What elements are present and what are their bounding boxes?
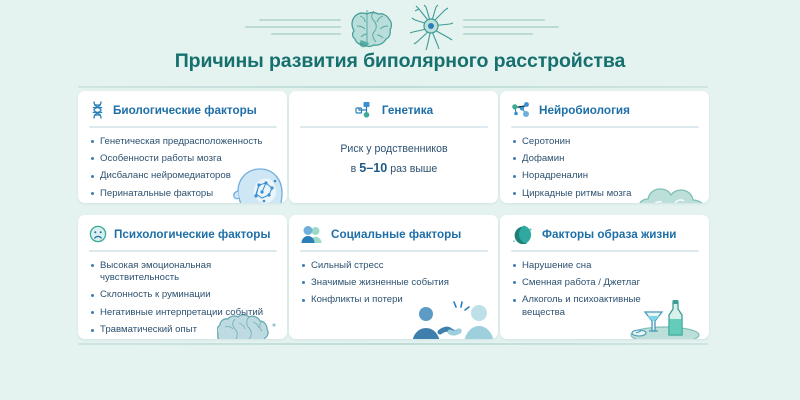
card-header: Биологические факторы (89, 100, 277, 120)
divider-bottom (78, 343, 708, 345)
card-header: Нейробиология (511, 100, 699, 120)
card-divider (300, 250, 488, 252)
bullet-dot (91, 264, 94, 267)
bullet-dot (513, 192, 516, 195)
card-header: Факторы образа жизни (511, 224, 699, 244)
card-title: Факторы образа жизни (542, 228, 676, 241)
list-item-label: Генетическая предрасположенность (100, 136, 263, 148)
list-item: Нарушение сна (511, 260, 699, 272)
bullet-dot (91, 192, 94, 195)
two-people-icon (300, 225, 324, 243)
speedlines-right (463, 19, 559, 35)
bullet-list: Высокая эмоциональная чувствительность С… (89, 260, 277, 337)
card-lifestyle-factors[interactable]: Факторы образа жизни Нарушение сна Сменн… (500, 215, 709, 339)
genetics-stat: Риск у родственников в 5–10 раз выше (300, 141, 488, 179)
bullet-dot (302, 281, 305, 284)
speedline (259, 19, 341, 21)
card-title: Социальные факторы (331, 228, 461, 241)
header: Причины развития биполярного расстройств… (0, 0, 800, 88)
hero-illustration-row (0, 4, 800, 50)
list-item: Перинатальные факторы (89, 188, 277, 200)
card-divider (511, 250, 699, 252)
speedline (463, 33, 533, 35)
brain-illustration (347, 4, 399, 50)
dna-icon (89, 101, 106, 119)
list-item: Травматический опыт (89, 324, 277, 336)
list-item-label: Склонность к руминации (100, 289, 211, 301)
list-item: Норадреналин (511, 170, 699, 182)
card-header: Социальные факторы (300, 224, 488, 244)
bullet-dot (91, 175, 94, 178)
bullet-dot (513, 299, 516, 302)
bullet-dot (91, 294, 94, 297)
bullet-dot (91, 140, 94, 143)
list-item: Конфликты и потери (300, 294, 488, 306)
card-header: Генетика (300, 100, 488, 120)
card-title: Психологические факторы (114, 228, 270, 241)
card-divider (89, 126, 277, 128)
bullet-dot (513, 175, 516, 178)
card-social-factors[interactable]: Социальные факторы Сильный стресс Значим… (289, 215, 498, 339)
list-item: Особенности работы мозга (89, 153, 277, 165)
list-item-label: Травматический опыт (100, 324, 197, 336)
neuron-illustration (405, 4, 457, 50)
moon-icon (511, 225, 535, 244)
bullet-list: Сильный стресс Значимые жизненные событи… (300, 260, 488, 307)
sad-face-icon (89, 225, 107, 243)
card-psychological-factors[interactable]: Психологические факторы Высокая эмоциона… (78, 215, 287, 339)
list-item-label: Конфликты и потери (311, 294, 403, 306)
list-item-label: Серотонин (522, 136, 570, 148)
list-item: Значимые жизненные события (300, 277, 488, 289)
bullet-dot (513, 281, 516, 284)
speedline (245, 26, 341, 28)
card-divider (511, 126, 699, 128)
stat-line-2: в 5–10 раз выше (300, 158, 488, 178)
card-genetics[interactable]: Генетика Риск у родственников в 5–10 раз… (289, 91, 498, 203)
factors-grid: Биологические факторы Генетическая предр… (78, 91, 708, 339)
list-item: Сильный стресс (300, 260, 488, 272)
speedlines-left (241, 19, 341, 35)
bullet-dot (91, 157, 94, 160)
bullet-dot (302, 299, 305, 302)
molecule-icon (511, 101, 532, 119)
stat-line-1: Риск у родственников (300, 141, 488, 158)
divider-top (78, 86, 708, 88)
bullet-dot (513, 157, 516, 160)
list-item: Дофамин (511, 153, 699, 165)
bullet-dot (513, 140, 516, 143)
card-title: Генетика (382, 104, 433, 117)
stat-value: 5–10 (359, 161, 387, 175)
list-item-label: Сменная работа / Джетлаг (522, 277, 640, 289)
list-item: Высокая эмоциональная чувствительность (89, 260, 277, 285)
bullet-list: Серотонин Дофамин Норадреналин Циркадные… (511, 136, 699, 201)
list-item-label: Дисбаланс нейромедиаторов (100, 170, 231, 182)
list-item-label: Алкоголь и психоактивные вещества (522, 294, 641, 319)
speedline (463, 26, 559, 28)
list-item-label: Дофамин (522, 153, 564, 165)
card-title: Нейробиология (539, 104, 630, 117)
card-header: Психологические факторы (89, 224, 277, 244)
family-tree-icon (355, 101, 374, 119)
list-item: Склонность к руминации (89, 289, 277, 301)
list-item: Серотонин (511, 136, 699, 148)
list-item-label: Нарушение сна (522, 260, 591, 272)
bullet-dot (302, 264, 305, 267)
speedline (463, 19, 545, 21)
bullet-list: Генетическая предрасположенность Особенн… (89, 136, 277, 201)
card-biological-factors[interactable]: Биологические факторы Генетическая предр… (78, 91, 287, 203)
list-item: Негативные интерпретации событий (89, 307, 277, 319)
bullet-dot (91, 329, 94, 332)
page-title: Причины развития биполярного расстройств… (0, 50, 800, 73)
list-item-label: Высокая эмоциональная чувствительность (100, 260, 277, 285)
list-item: Сменная работа / Джетлаг (511, 277, 699, 289)
list-item: Алкоголь и психоактивные вещества (511, 294, 699, 319)
list-item-label: Норадреналин (522, 170, 588, 182)
bullet-list: Нарушение сна Сменная работа / Джетлаг А… (511, 260, 699, 319)
stat-prefix: в (351, 163, 360, 175)
list-item-label: Особенности работы мозга (100, 153, 222, 165)
bullet-dot (91, 311, 94, 314)
list-item-label: Негативные интерпретации событий (100, 307, 263, 319)
list-item: Генетическая предрасположенность (89, 136, 277, 148)
card-divider (300, 126, 488, 128)
list-item-label: Циркадные ритмы мозга (522, 188, 631, 200)
stat-suffix: раз выше (387, 163, 437, 175)
bullet-dot (513, 264, 516, 267)
list-item-label: Значимые жизненные события (311, 277, 449, 289)
list-item: Циркадные ритмы мозга (511, 188, 699, 200)
card-neurobiology[interactable]: Нейробиология Серотонин Дофамин Норадрен… (500, 91, 709, 203)
two-people-conflict-illustration (410, 301, 496, 339)
card-divider (89, 250, 277, 252)
list-item-label: Перинатальные факторы (100, 188, 213, 200)
card-title: Биологические факторы (113, 104, 257, 117)
list-item-label: Сильный стресс (311, 260, 384, 272)
list-item: Дисбаланс нейромедиаторов (89, 170, 277, 182)
speedline (271, 33, 341, 35)
